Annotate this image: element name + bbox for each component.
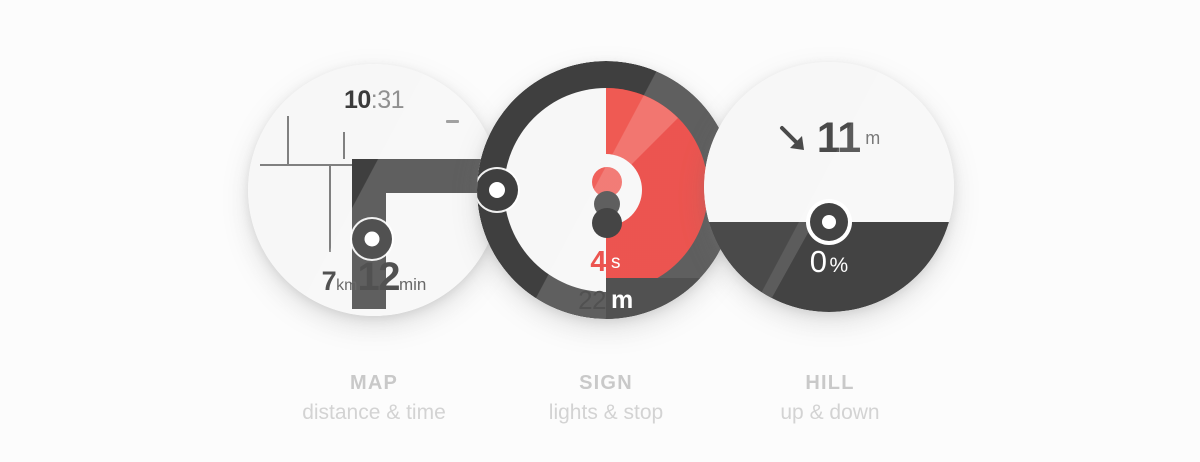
hill-elevation: 11m [704, 114, 954, 163]
sign-countdown-unit: s [611, 252, 621, 274]
hill-grade: 0% [704, 244, 954, 280]
watch-face-hill[interactable]: 11m 0% [704, 62, 954, 312]
watch-face-sign[interactable]: 4 s 22 m [477, 61, 735, 319]
hill-elevation-value: 11 [817, 114, 860, 162]
watchface-showcase: 10:31 7km12min [0, 0, 1200, 462]
map-duration-unit: min [399, 275, 426, 294]
map-clock: 10:31 [248, 86, 500, 115]
position-marker-icon [347, 214, 397, 264]
hill-grade-unit: % [830, 254, 849, 277]
hill-elevation-unit: m [865, 128, 880, 148]
hill-face-inner: 11m 0% [704, 62, 954, 312]
map-distance-value: 7 [322, 266, 337, 296]
watch-face-map[interactable]: 10:31 7km12min [248, 64, 500, 316]
map-clock-hours: 10 [344, 86, 371, 114]
arrow-down-right-icon [778, 124, 808, 154]
sign-countdown-value: 4 [477, 246, 606, 279]
position-marker-icon [804, 197, 854, 247]
minus-dash-icon [446, 120, 459, 123]
hill-grade-value: 0 [810, 244, 827, 279]
map-distance-unit: km [336, 277, 357, 294]
map-face-inner: 10:31 7km12min [248, 64, 500, 316]
caption-hill-title: HILL [680, 372, 980, 395]
sign-distance-value: 22 [477, 285, 606, 316]
sign-face-inner: 4 s 22 m [477, 61, 735, 319]
sign-distance-unit: m [611, 286, 633, 315]
caption-hill-subtitle: up & down [680, 401, 980, 425]
traffic-light-icon [585, 166, 629, 242]
map-clock-minutes: :31 [371, 86, 404, 114]
edge-position-marker-icon [477, 164, 523, 216]
caption-hill: HILL up & down [680, 372, 980, 425]
